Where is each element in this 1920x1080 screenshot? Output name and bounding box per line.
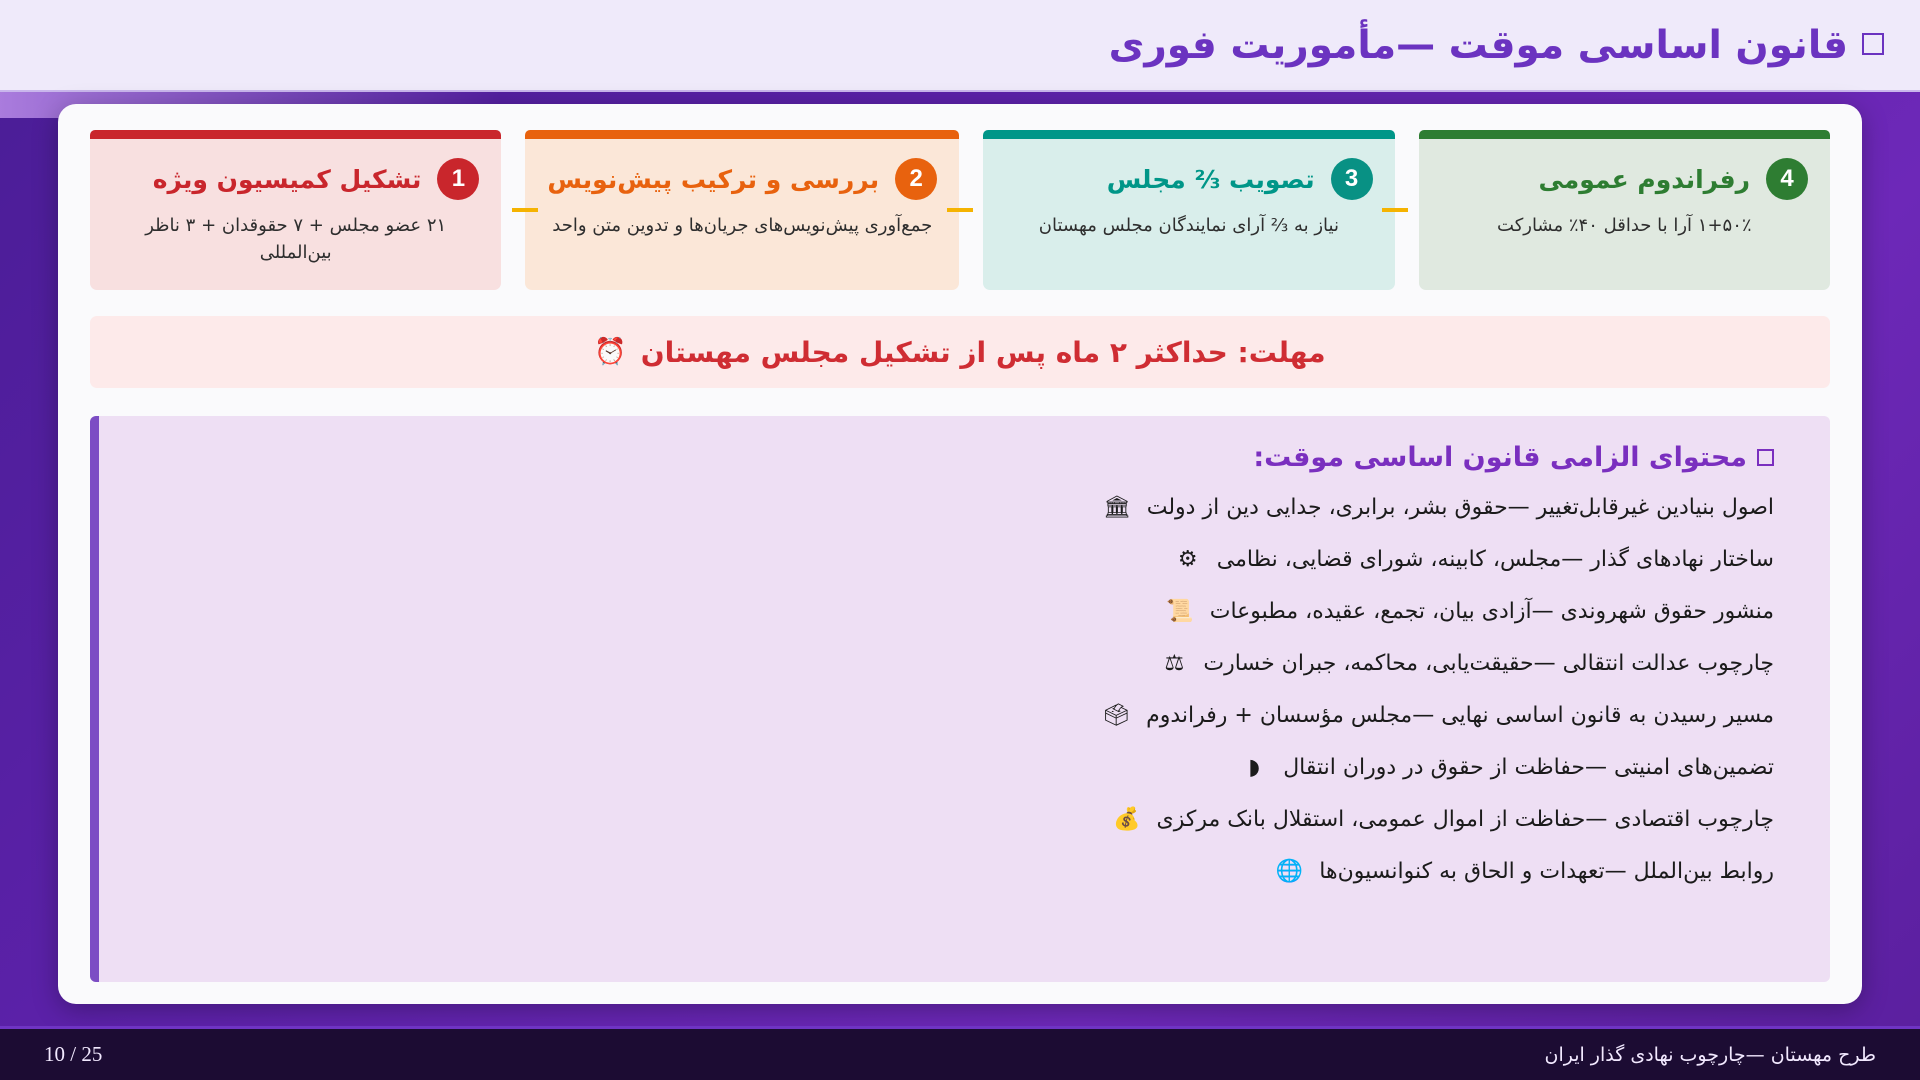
step-header: 4 رفراندوم عمومی bbox=[1441, 158, 1808, 200]
step-description: ۲۱ عضو مجلس + ۷ حقوقدان + ۳ ناظر بین‌الم… bbox=[112, 212, 479, 266]
list-item: ساختار نهادهای گذار —مجلس، کابینه، شورای… bbox=[129, 539, 1774, 581]
slide-header: قانون اساسی موقت —مأموریت فوری bbox=[0, 0, 1920, 92]
bullet-text: منشور حقوق شهروندی —آزادی بیان، تجمع، عق… bbox=[1210, 594, 1774, 629]
step-description: نیاز به ⅔ آرای نمایندگان مجلس مهستان bbox=[1005, 212, 1372, 239]
list-item: چارچوب اقتصادی —حفاظت از اموال عمومی، اس… bbox=[129, 799, 1774, 841]
page-title: قانون اساسی موقت —مأموریت فوری bbox=[1109, 23, 1884, 68]
empty-checkbox-icon bbox=[1757, 449, 1774, 466]
step-title: بررسی و ترکیب پیش‌نویس bbox=[547, 165, 879, 194]
bullet-text: ساختار نهادهای گذار —مجلس، کابینه، شورای… bbox=[1217, 542, 1774, 577]
content-bullet-list: اصول بنیادین غیرقابل‌تغییر —حقوق بشر، بر… bbox=[129, 487, 1774, 893]
slide-footer: طرح مهستان —چارچوب نهادی گذار ایران 10 /… bbox=[0, 1026, 1920, 1080]
deadline-banner: مهلت: حداکثر ۲ ماه پس از تشکیل مجلس مهست… bbox=[90, 316, 1830, 388]
balance-scale-icon: ⚖ bbox=[1161, 646, 1187, 681]
list-item: اصول بنیادین غیرقابل‌تغییر —حقوق بشر، بر… bbox=[129, 487, 1774, 529]
list-item: روابط بین‌الملل —تعهدات و الحاق به کنوان… bbox=[129, 851, 1774, 893]
shield-icon: ◗ bbox=[1241, 750, 1267, 785]
slide: قانون اساسی موقت —مأموریت فوری 4 رفراندو… bbox=[0, 0, 1920, 1080]
step-header: 3 تصویب ⅔ مجلس bbox=[1005, 158, 1372, 200]
step-connector-1-2 bbox=[512, 208, 538, 212]
step-number-badge: 4 bbox=[1766, 158, 1808, 200]
step-topbar bbox=[525, 130, 959, 139]
bullet-text: چارچوب اقتصادی —حفاظت از اموال عمومی، اس… bbox=[1156, 802, 1774, 837]
alarm-clock-icon: ⏰ bbox=[594, 339, 626, 365]
globe-icon: 🌐 bbox=[1277, 854, 1303, 889]
bullet-text: تضمین‌های امنیتی —حفاظت از حقوق در دوران… bbox=[1283, 750, 1774, 785]
ballot-box-icon: 🗳 bbox=[1104, 698, 1130, 733]
step-topbar bbox=[90, 130, 501, 139]
page-title-text: قانون اساسی موقت —مأموریت فوری bbox=[1109, 23, 1848, 68]
step-card-3[interactable]: 3 تصویب ⅔ مجلس نیاز به ⅔ آرای نمایندگان … bbox=[983, 130, 1394, 290]
content-block-title-text: محتوای الزامی قانون اساسی موقت: bbox=[1253, 442, 1747, 473]
step-card-4[interactable]: 4 رفراندوم عمومی ۵۰٪+۱ آرا با حداقل ۴۰٪ … bbox=[1419, 130, 1830, 290]
step-topbar bbox=[983, 130, 1394, 139]
step-topbar bbox=[1419, 130, 1830, 139]
step-card-2[interactable]: 2 بررسی و ترکیب پیش‌نویس جمع‌آوری پیش‌نو… bbox=[525, 130, 959, 290]
money-bag-icon: 💰 bbox=[1114, 802, 1140, 837]
deadline-text: مهلت: حداکثر ۲ ماه پس از تشکیل مجلس مهست… bbox=[641, 336, 1326, 369]
step-description: جمع‌آوری پیش‌نویس‌های جریان‌ها و تدوین م… bbox=[547, 212, 937, 239]
step-connector-3-4 bbox=[1382, 208, 1408, 212]
step-description: ۵۰٪+۱ آرا با حداقل ۴۰٪ مشارکت bbox=[1441, 212, 1808, 239]
footer-caption: طرح مهستان —چارچوب نهادی گذار ایران bbox=[1544, 1044, 1876, 1066]
step-connector-2-3 bbox=[947, 208, 973, 212]
step-header: 2 بررسی و ترکیب پیش‌نویس bbox=[547, 158, 937, 200]
page-number: 10 / 25 bbox=[44, 1042, 102, 1067]
scroll-document-icon: 📜 bbox=[1168, 594, 1194, 629]
step-number-badge: 1 bbox=[437, 158, 479, 200]
bullet-text: اصول بنیادین غیرقابل‌تغییر —حقوق بشر، بر… bbox=[1147, 490, 1774, 525]
bullet-text: چارچوب عدالت انتقالی —حقیقت‌یابی، محاکمه… bbox=[1203, 646, 1774, 681]
step-number-badge: 3 bbox=[1331, 158, 1373, 200]
list-item: مسیر رسیدن به قانون اساسی نهایی —مجلس مؤ… bbox=[129, 695, 1774, 737]
bullet-text: مسیر رسیدن به قانون اساسی نهایی —مجلس مؤ… bbox=[1146, 698, 1774, 733]
list-item: تضمین‌های امنیتی —حفاظت از حقوق در دوران… bbox=[129, 747, 1774, 789]
step-title: تصویب ⅔ مجلس bbox=[1107, 165, 1315, 194]
gear-icon: ⚙ bbox=[1175, 542, 1201, 577]
list-item: منشور حقوق شهروندی —آزادی بیان، تجمع، عق… bbox=[129, 591, 1774, 633]
step-card-1[interactable]: 1 تشکیل کمیسیون ویژه ۲۱ عضو مجلس + ۷ حقو… bbox=[90, 130, 501, 290]
content-block-title: محتوای الزامی قانون اساسی موقت: bbox=[129, 442, 1774, 473]
required-content-block: محتوای الزامی قانون اساسی موقت: اصول بنی… bbox=[90, 416, 1830, 982]
step-header: 1 تشکیل کمیسیون ویژه bbox=[112, 158, 479, 200]
list-item: چارچوب عدالت انتقالی —حقیقت‌یابی، محاکمه… bbox=[129, 643, 1774, 685]
empty-checkbox-icon bbox=[1862, 33, 1884, 55]
step-number-badge: 2 bbox=[895, 158, 937, 200]
classical-building-icon: 🏛 bbox=[1105, 490, 1131, 525]
step-title: تشکیل کمیسیون ویژه bbox=[153, 165, 422, 194]
slide-canvas: 4 رفراندوم عمومی ۵۰٪+۱ آرا با حداقل ۴۰٪ … bbox=[58, 104, 1862, 1004]
bullet-text: روابط بین‌الملل —تعهدات و الحاق به کنوان… bbox=[1319, 854, 1774, 889]
process-steps: 4 رفراندوم عمومی ۵۰٪+۱ آرا با حداقل ۴۰٪ … bbox=[90, 130, 1830, 290]
step-title: رفراندوم عمومی bbox=[1538, 165, 1750, 194]
